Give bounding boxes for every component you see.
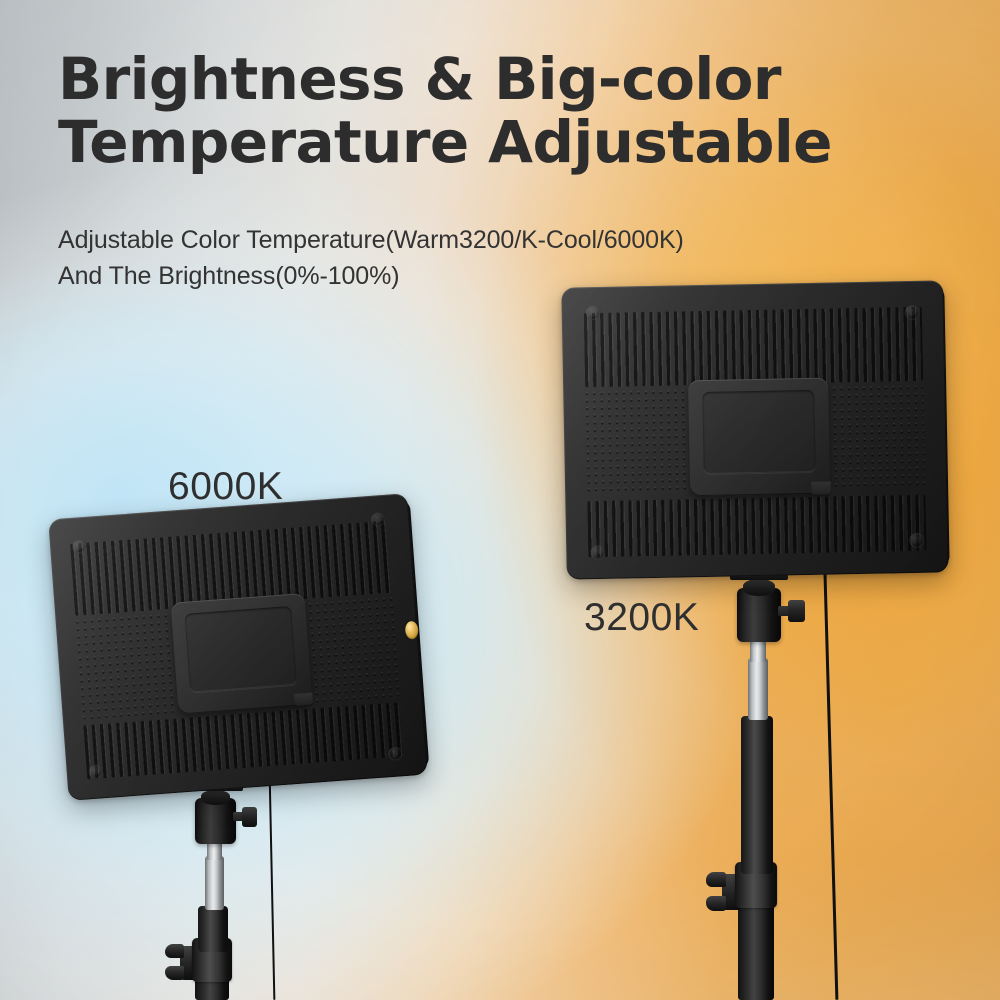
dot-texture-right-cool	[301, 597, 400, 703]
stand-tube-upper-cool	[198, 906, 228, 952]
control-module-inset-cool	[184, 606, 296, 693]
label-6000k: 6000K	[168, 465, 283, 509]
dot-texture-left-cool	[76, 613, 175, 719]
cable-exit-notch-cool	[294, 693, 314, 707]
product-marketing-image: Brightness & Big-color Temperature Adjus…	[0, 0, 1000, 1000]
corner-screw-br-cool	[388, 746, 403, 761]
panel-back-face-cool	[48, 493, 428, 801]
locking-knob-cool[interactable]	[242, 807, 257, 827]
led-panel-cool	[0, 0, 1000, 1000]
label-3200k: 3200K	[584, 596, 699, 640]
chrome-column-cool	[205, 856, 224, 910]
ball-head-dome-cool	[201, 790, 230, 805]
led-panel-body-cool	[48, 493, 428, 801]
